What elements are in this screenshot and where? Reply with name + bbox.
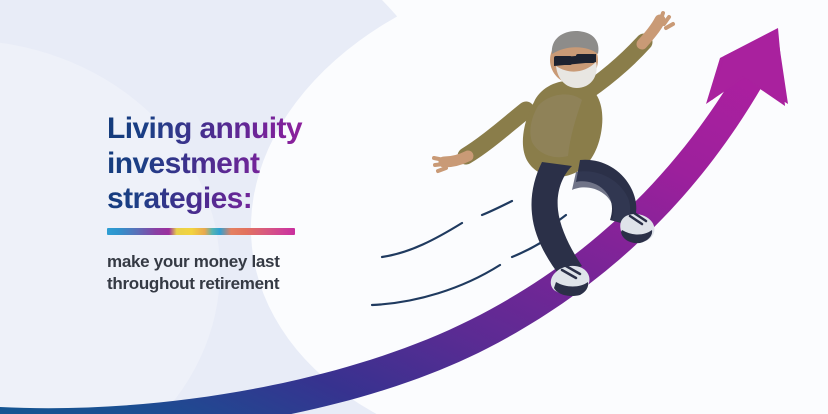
text-block: Living annuity investment strategies: ma… [107, 112, 407, 296]
promo-banner: Living annuity investment strategies: ma… [0, 0, 828, 414]
page-title: Living annuity investment strategies: [107, 112, 407, 216]
page-subtitle: make your money last throughout retireme… [107, 251, 407, 295]
man-surfing-on-arrow [430, 10, 720, 310]
gradient-rule [107, 228, 295, 235]
